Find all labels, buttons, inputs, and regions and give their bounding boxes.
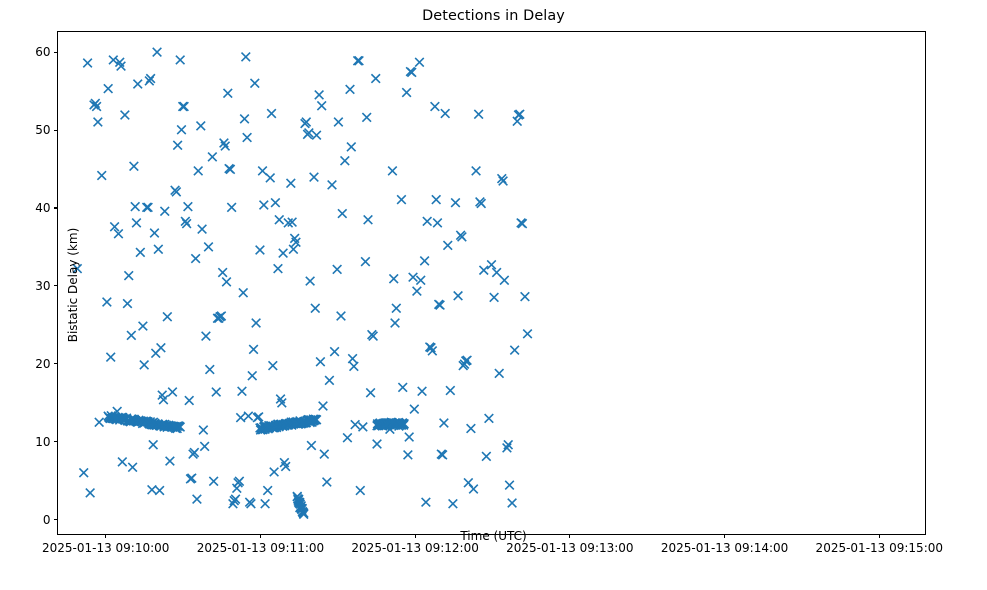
x-axis-label: Time (UTC)	[0, 529, 987, 543]
y-tick-mark	[54, 130, 58, 131]
y-tick-label: 10	[35, 434, 50, 450]
y-axis-label: Bistatic Delay (km)	[66, 33, 80, 537]
y-tick-mark	[54, 207, 58, 208]
y-tick-label: 30	[35, 278, 50, 294]
chart-title: Detections in Delay	[0, 8, 987, 24]
y-tick-label: 20	[35, 356, 50, 372]
y-tick-label: 0	[43, 512, 51, 528]
scatter-plot-markers	[58, 32, 925, 534]
y-tick-mark	[54, 52, 58, 53]
y-tick-label: 60	[35, 44, 50, 60]
figure-canvas: Detections in Delay 0102030405060 2025-0…	[0, 0, 987, 590]
y-tick-mark	[54, 285, 58, 286]
y-tick-label: 50	[35, 122, 50, 138]
plot-axes: 0102030405060 2025-01-13 09:10:002025-01…	[57, 31, 926, 535]
y-tick-mark	[54, 363, 58, 364]
y-tick-mark	[54, 441, 58, 442]
y-tick-mark	[54, 519, 58, 520]
y-tick-label: 40	[35, 200, 50, 216]
